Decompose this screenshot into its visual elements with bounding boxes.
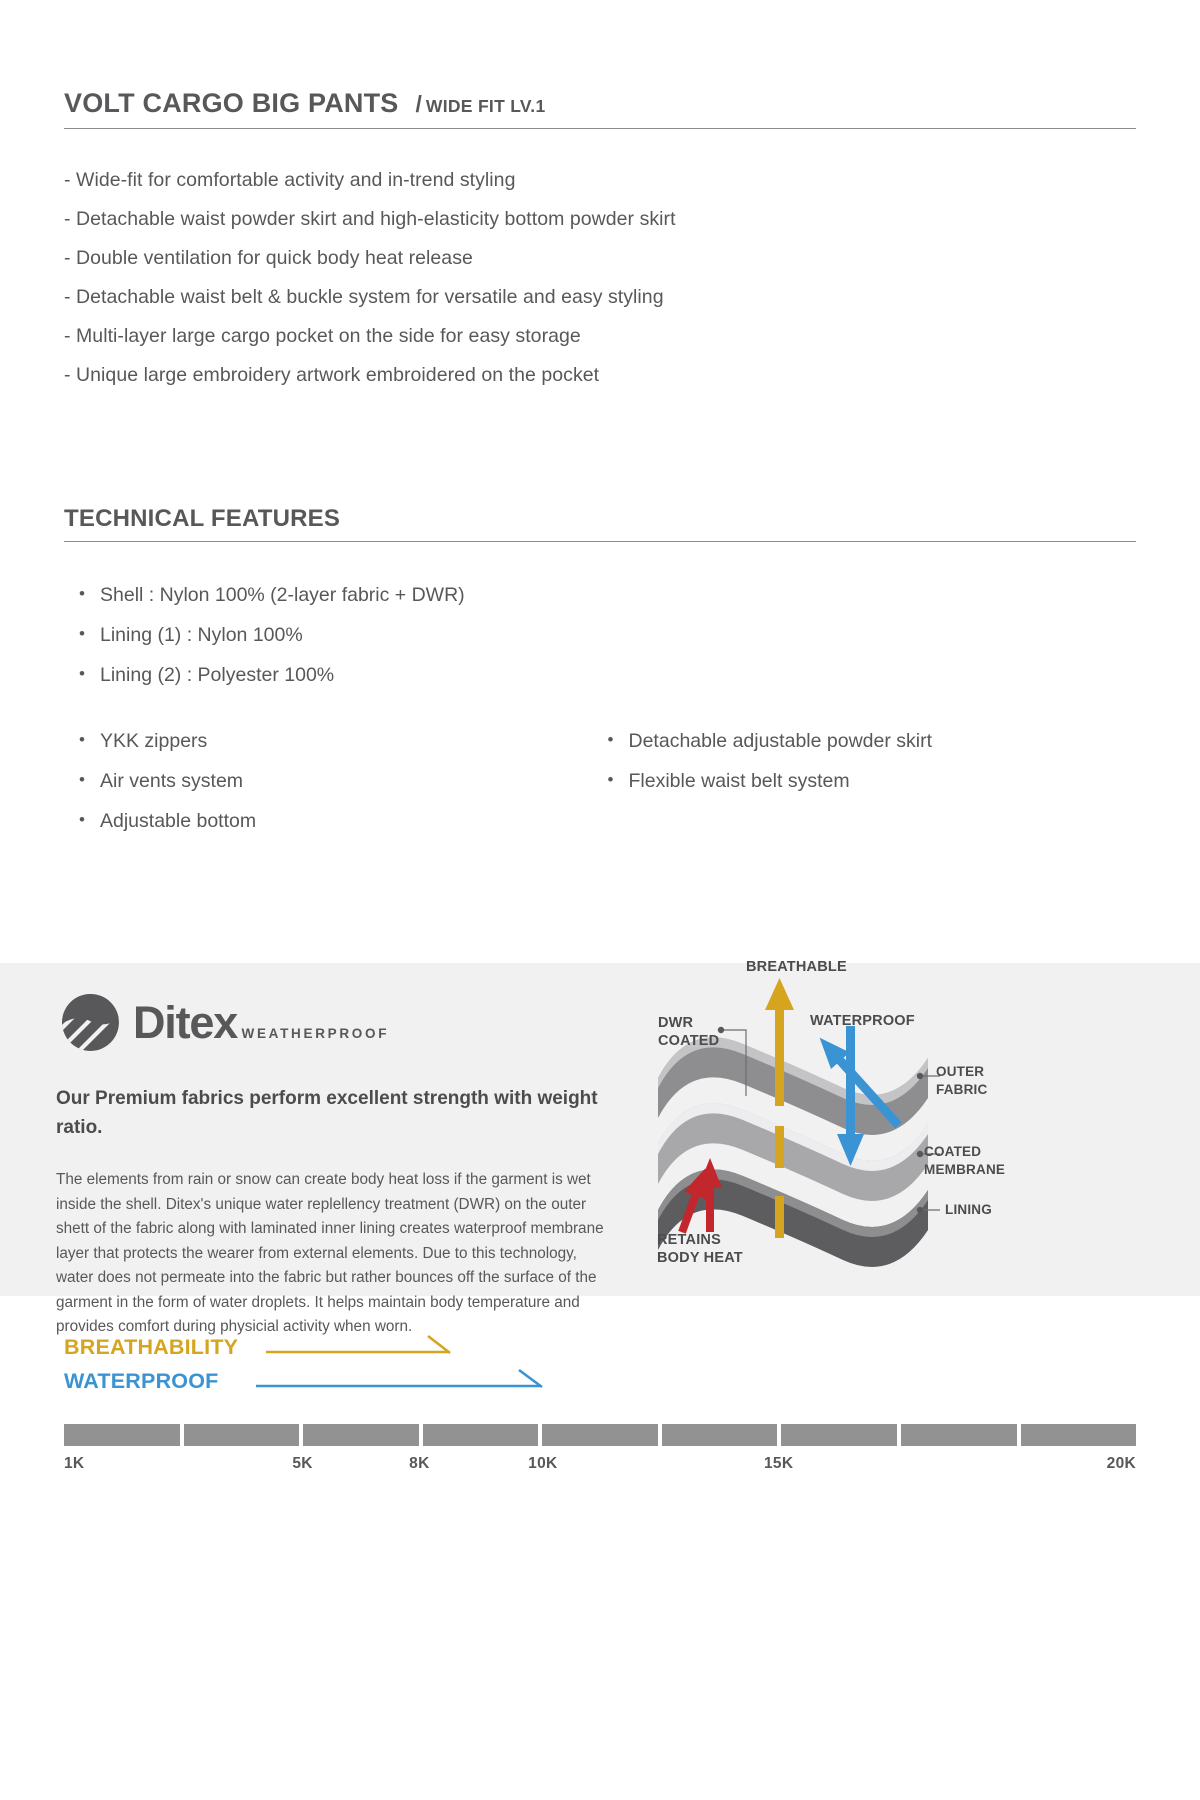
list-item: Adjustable bottom: [79, 801, 608, 841]
title-separator: /: [416, 91, 422, 118]
bar-segment: [662, 1424, 778, 1446]
product-title: VOLT CARGO BIG PANTS: [64, 88, 399, 119]
scale-label-waterproof: WATERPROOF: [64, 1369, 218, 1394]
bar-segment: [423, 1424, 539, 1446]
tick-label: 10K: [528, 1455, 557, 1473]
waterproof-arrow-icon: [256, 1368, 566, 1394]
ditex-logo: Ditex WEATHERPROOF: [62, 994, 389, 1051]
list-item: - Wide-fit for comfortable activity and …: [64, 161, 1136, 200]
tick-label: 20K: [1107, 1455, 1136, 1473]
ditex-brand-panel: Ditex WEATHERPROOF Our Premium fabrics p…: [0, 963, 1200, 1296]
bar-segment: [542, 1424, 658, 1446]
feature-columns: YKK zippers Air vents system Adjustable …: [64, 721, 1136, 841]
bar-segment: [1021, 1424, 1137, 1446]
bar-segment: [184, 1424, 300, 1446]
product-spec-page: VOLT CARGO BIG PANTS / WIDE FIT LV.1 - W…: [0, 0, 1200, 1800]
product-feature-list: - Wide-fit for comfortable activity and …: [64, 161, 1136, 395]
scale-label-breathability: BREATHABILITY: [64, 1335, 238, 1360]
list-item: Detachable adjustable powder skirt: [608, 721, 1137, 761]
ditex-logo-icon: [62, 994, 119, 1051]
bar-segment: [64, 1424, 180, 1446]
performance-scale-section: BREATHABILITY WATERPROOF 1K5K8K10K15K20K: [0, 1330, 1200, 1477]
tick-label: 15K: [764, 1455, 793, 1473]
diagram-label-waterproof: WATERPROOF: [810, 1012, 915, 1030]
list-item: - Double ventilation for quick body heat…: [64, 239, 1136, 278]
list-item: Lining (1) : Nylon 100%: [79, 615, 1136, 655]
breathability-arrow-icon: [266, 1334, 476, 1360]
scale-row-breathability: BREATHABILITY: [64, 1330, 1136, 1364]
technical-features-heading: TECHNICAL FEATURES: [64, 505, 1136, 542]
list-item: Air vents system: [79, 761, 608, 801]
list-item: - Unique large embroidery artwork embroi…: [64, 356, 1136, 395]
feature-column-left: YKK zippers Air vents system Adjustable …: [79, 721, 608, 841]
list-item: YKK zippers: [79, 721, 608, 761]
bar-segment: [781, 1424, 897, 1446]
list-item: Flexible waist belt system: [608, 761, 1137, 801]
fabric-layer-diagram: BREATHABLE DWR COATED WATERPROOF OUTER F…: [628, 948, 1028, 1293]
list-item: Lining (2) : Polyester 100%: [79, 655, 1136, 695]
section-title: TECHNICAL FEATURES: [64, 505, 340, 532]
tick-label: 8K: [409, 1455, 429, 1473]
list-item: - Multi-layer large cargo pocket on the …: [64, 317, 1136, 356]
performance-bar: [64, 1424, 1136, 1446]
ditex-logo-name: Ditex: [133, 997, 237, 1048]
material-list: Shell : Nylon 100% (2-layer fabric + DWR…: [64, 575, 1136, 695]
diagram-label-outer-fabric: OUTER FABRIC: [936, 1063, 987, 1099]
ditex-lead-text: Our Premium fabrics perform excellent st…: [56, 1084, 616, 1142]
product-subtitle: WIDE FIT LV.1: [426, 96, 546, 117]
diagram-label-retains-body-heat: RETAINS BODY HEAT: [657, 1231, 743, 1267]
list-item: - Detachable waist powder skirt and high…: [64, 200, 1136, 239]
bar-segment: [303, 1424, 419, 1446]
list-item: - Detachable waist belt & buckle system …: [64, 278, 1136, 317]
diagram-label-dwr-coated: DWR COATED: [658, 1014, 719, 1050]
list-item: Shell : Nylon 100% (2-layer fabric + DWR…: [79, 575, 1136, 615]
diagram-label-breathable: BREATHABLE: [746, 958, 847, 976]
diagram-label-lining: LINING: [945, 1201, 992, 1219]
page-title: VOLT CARGO BIG PANTS / WIDE FIT LV.1: [64, 88, 1136, 129]
ditex-body-text: The elements from rain or snow can creat…: [56, 1168, 608, 1340]
ditex-logo-tagline: WEATHERPROOF: [242, 1026, 390, 1041]
performance-bar-ticks: 1K5K8K10K15K20K: [64, 1455, 1136, 1477]
tick-label: 1K: [64, 1455, 84, 1473]
tick-label: 5K: [292, 1455, 312, 1473]
technical-features-section: TECHNICAL FEATURES Shell : Nylon 100% (2…: [0, 505, 1200, 841]
product-overview-section: VOLT CARGO BIG PANTS / WIDE FIT LV.1 - W…: [0, 0, 1200, 395]
diagram-label-coated-membrane: COATED MEMBRANE: [924, 1143, 1005, 1179]
scale-row-waterproof: WATERPROOF: [64, 1364, 1136, 1398]
bar-segment: [901, 1424, 1017, 1446]
feature-column-right: Detachable adjustable powder skirt Flexi…: [608, 721, 1137, 841]
